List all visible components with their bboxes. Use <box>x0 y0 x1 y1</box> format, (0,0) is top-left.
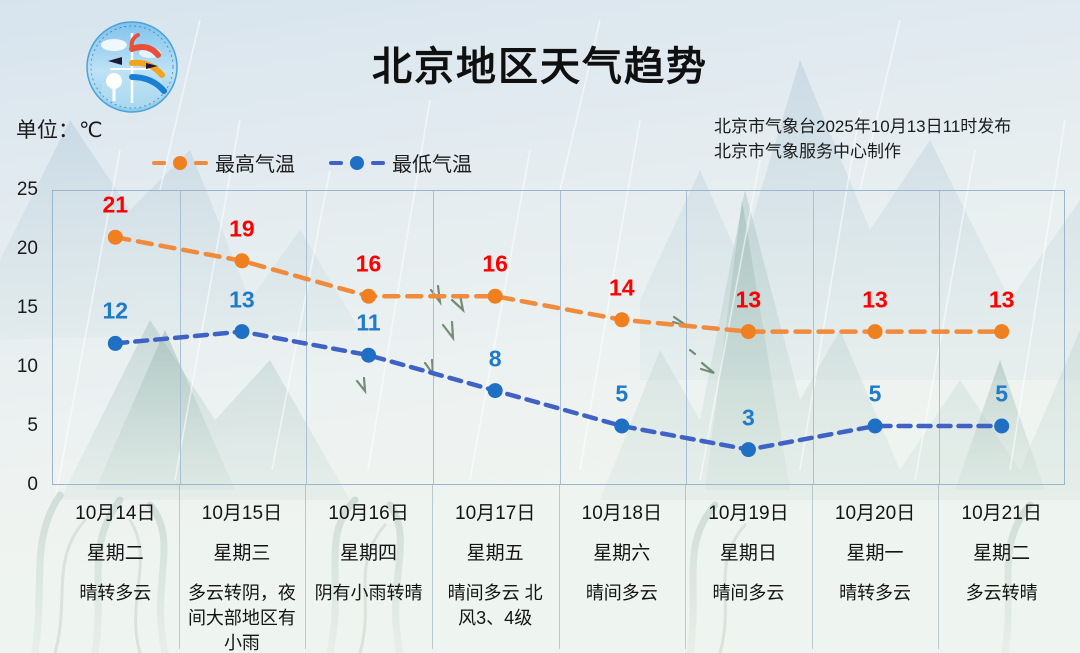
data-point-high[interactable] <box>868 324 883 339</box>
value-label-low: 12 <box>103 298 129 325</box>
day-weekday: 星期五 <box>436 541 555 567</box>
data-point-high[interactable] <box>488 289 503 304</box>
y-axis-tick: 5 <box>27 415 38 437</box>
day-date: 10月14日 <box>56 501 175 527</box>
y-axis-tick: 20 <box>17 238 38 260</box>
temperature-line-chart <box>52 190 1065 485</box>
day-description: 阴有小雨转晴 <box>309 581 428 606</box>
day-column: 10月16日星期四阴有小雨转晴 <box>305 485 432 653</box>
day-column: 10月17日星期五晴间多云 北风3、4级 <box>432 485 559 653</box>
data-point-low[interactable] <box>361 348 376 363</box>
day-date: 10月18日 <box>563 501 682 527</box>
data-point-low[interactable] <box>488 383 503 398</box>
y-axis-tick: 15 <box>17 297 38 319</box>
day-description: 晴间多云 <box>689 581 808 606</box>
day-date: 10月16日 <box>309 501 428 527</box>
data-point-high[interactable] <box>361 289 376 304</box>
legend-item-high: 最高气温 <box>152 148 295 177</box>
day-description: 多云转阴，夜间大部地区有小雨 <box>183 581 302 653</box>
data-point-high[interactable] <box>108 230 123 245</box>
day-weekday: 星期日 <box>689 541 808 567</box>
legend-item-low: 最低气温 <box>329 148 472 177</box>
value-label-high: 21 <box>103 192 129 219</box>
day-description: 晴间多云 北风3、4级 <box>436 581 555 631</box>
day-date: 10月17日 <box>436 501 555 527</box>
y-axis-tick: 10 <box>17 356 38 378</box>
unit-label: 单位：℃ <box>16 114 103 144</box>
data-point-low[interactable] <box>108 336 123 351</box>
day-date: 10月21日 <box>942 501 1061 527</box>
value-label-low: 3 <box>742 404 755 431</box>
y-axis: 0510152025 <box>0 190 46 485</box>
day-column: 10月18日星期六晴间多云 <box>559 485 686 653</box>
issuer-info: 北京市气象台2025年10月13日11时发布 北京市气象服务中心制作 <box>714 114 1011 164</box>
data-point-low[interactable] <box>994 419 1009 434</box>
day-weekday: 星期六 <box>563 541 682 567</box>
value-label-high: 13 <box>989 286 1015 313</box>
data-point-low[interactable] <box>234 324 249 339</box>
legend-label-low: 最低气温 <box>392 148 472 177</box>
value-label-high: 16 <box>356 251 382 278</box>
day-description: 晴转多云 <box>56 581 175 606</box>
value-label-low: 5 <box>869 381 882 408</box>
day-description: 晴间多云 <box>563 581 682 606</box>
issuer-line-2: 北京市气象服务中心制作 <box>714 139 1011 164</box>
series-line-high <box>115 237 1001 331</box>
data-point-high[interactable] <box>741 324 756 339</box>
page-title: 北京地区天气趋势 <box>0 34 1080 92</box>
value-label-high: 19 <box>229 215 255 242</box>
value-label-low: 8 <box>489 345 502 372</box>
value-label-high: 13 <box>736 286 762 313</box>
day-column: 10月15日星期三多云转阴，夜间大部地区有小雨 <box>179 485 306 653</box>
value-label-low: 5 <box>615 381 628 408</box>
day-weekday: 星期一 <box>816 541 935 567</box>
legend-marker-low-icon <box>329 156 385 170</box>
data-point-high[interactable] <box>234 253 249 268</box>
legend-marker-high-icon <box>152 156 208 170</box>
day-description: 晴转多云 <box>816 581 935 606</box>
data-point-high[interactable] <box>994 324 1009 339</box>
day-weekday: 星期三 <box>183 541 302 567</box>
day-weekday: 星期二 <box>942 541 1061 567</box>
day-description: 多云转晴 <box>942 581 1061 606</box>
data-point-low[interactable] <box>614 419 629 434</box>
day-column: 10月14日星期二晴转多云 <box>52 485 179 653</box>
day-column: 10月20日星期一晴转多云 <box>812 485 939 653</box>
value-label-low: 5 <box>995 381 1008 408</box>
day-weekday: 星期二 <box>56 541 175 567</box>
day-columns: 10月14日星期二晴转多云10月15日星期三多云转阴，夜间大部地区有小雨10月1… <box>52 485 1065 653</box>
y-axis-tick: 0 <box>27 474 38 496</box>
data-point-high[interactable] <box>614 312 629 327</box>
value-label-low: 11 <box>356 310 380 337</box>
chart-legend: 最高气温 最低气温 <box>152 148 472 177</box>
weather-trend-infographic: 北京地区天气趋势 单位：℃ 北京市气象台2025年10月13日11时发布 北京市… <box>0 0 1080 653</box>
day-weekday: 星期四 <box>309 541 428 567</box>
value-label-high: 14 <box>609 274 635 301</box>
day-date: 10月15日 <box>183 501 302 527</box>
data-point-low[interactable] <box>868 419 883 434</box>
day-column: 10月19日星期日晴间多云 <box>685 485 812 653</box>
day-date: 10月19日 <box>689 501 808 527</box>
value-label-high: 13 <box>862 286 888 313</box>
y-axis-tick: 25 <box>17 179 38 201</box>
value-label-high: 16 <box>482 251 508 278</box>
day-date: 10月20日 <box>816 501 935 527</box>
value-label-low: 13 <box>229 286 255 313</box>
legend-label-high: 最高气温 <box>215 148 295 177</box>
issuer-line-1: 北京市气象台2025年10月13日11时发布 <box>714 114 1011 139</box>
data-point-low[interactable] <box>741 442 756 457</box>
day-column: 10月21日星期二多云转晴 <box>938 485 1065 653</box>
